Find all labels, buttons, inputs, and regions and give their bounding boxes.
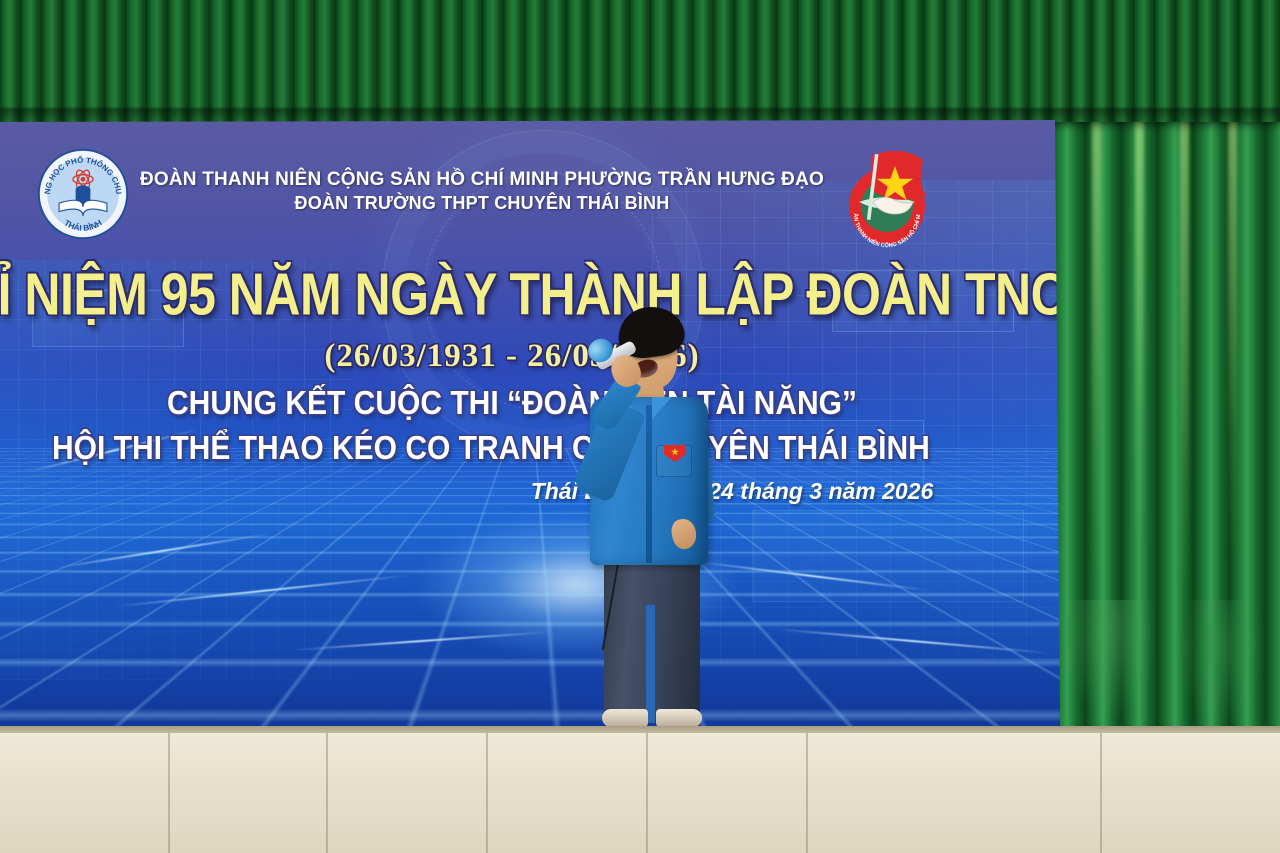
organization-line-1: ĐOÀN THANH NIÊN CỘNG SẢN HỒ CHÍ MINH PHƯ…	[132, 168, 832, 192]
performer-singing	[560, 305, 735, 740]
banner-headline: KỈ NIỆM 95 NĂM NGÀY THÀNH LẬP ĐOÀN TNCS …	[0, 260, 1022, 328]
stage-front-tiles	[0, 733, 1280, 853]
school-emblem-icon: TRUNG HỌC PHỔ THÔNG CHUYÊN THÁI BÌNH	[37, 148, 129, 240]
stage-tile-seam	[646, 733, 648, 853]
banner-subtitle-2: HỘI THI THỂ THAO KÉO CO TRANH CÚP CHUYÊN…	[52, 430, 892, 468]
banner-organization-block: ĐOÀN THANH NIÊN CỘNG SẢN HỒ CHÍ MINH PHƯ…	[132, 168, 832, 214]
banner-dates: (26/03/1931 - 26/03/2026)	[112, 338, 912, 375]
performer-collar-right	[652, 397, 672, 419]
organization-line-2: ĐOÀN TRƯỜNG THPT CHUYÊN THÁI BÌNH	[132, 192, 832, 215]
stage-tile-seam	[806, 733, 808, 853]
curtain-sheen	[1092, 118, 1101, 588]
event-banner: TRUNG HỌC PHỔ THÔNG CHUYÊN THÁI BÌNH	[0, 120, 1067, 730]
curtain-sheen	[1135, 118, 1144, 548]
stage-tile-seam	[168, 733, 170, 853]
curtain-valance	[0, 0, 1280, 122]
performer-shoe-right	[656, 709, 702, 727]
curtain-sheen	[1180, 118, 1189, 618]
stage-tile-seam	[486, 733, 488, 853]
stage-tile-seam	[326, 733, 328, 853]
banner-subtitle-1: CHUNG KẾT CUỘC THI “ĐOÀN VIÊN TÀI NĂNG”	[92, 385, 932, 423]
performer-shirt-placket	[646, 405, 652, 563]
stage-tile-seam	[1100, 733, 1102, 853]
performer-leg-gap	[646, 605, 655, 723]
stage-scene: TRUNG HỌC PHỔ THÔNG CHUYÊN THÁI BÌNH	[0, 0, 1280, 853]
performer-shoe-left	[602, 709, 648, 727]
youth-union-emblem-icon: ĐOÀN THANH NIÊN CỘNG SẢN HỒ CHÍ MINH	[837, 140, 937, 248]
curtain-sheen	[1228, 118, 1237, 568]
